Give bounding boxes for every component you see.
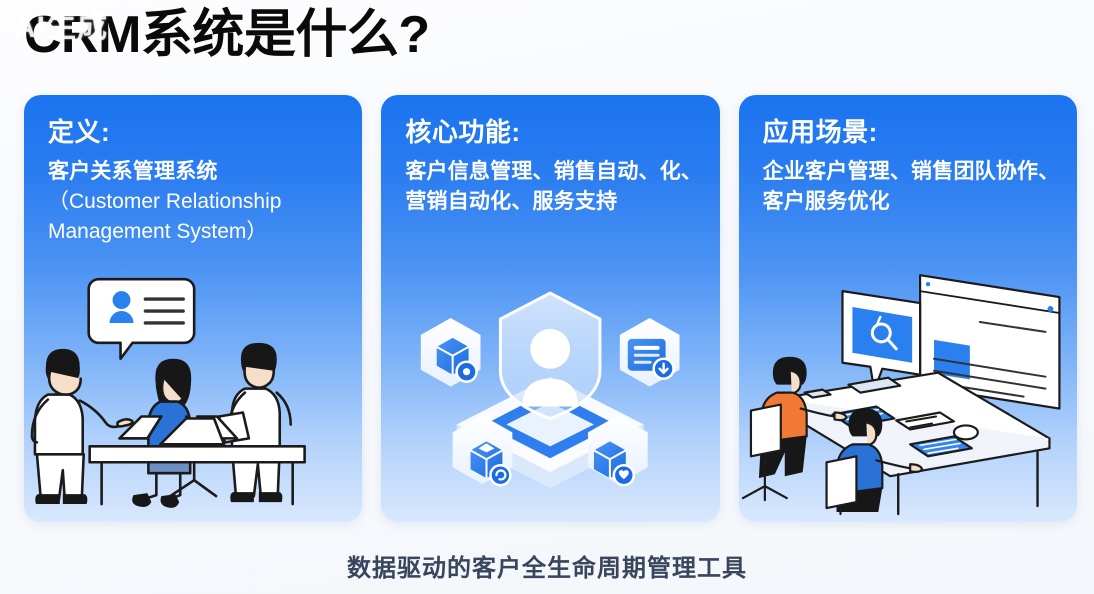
badge-box-gear-icon	[421, 318, 481, 387]
illustration-office-workstations	[739, 266, 1077, 516]
person-presenter	[32, 349, 133, 504]
card-definition-body-en: （Customer Relationship Management System…	[48, 187, 350, 247]
search-bubble-screen	[842, 291, 920, 391]
card-use-cases-body: 企业客户管理、销售团队协作、客户服务优化	[763, 157, 1065, 217]
profile-bubble-icon	[89, 279, 194, 359]
card-definition-heading: 定义:	[48, 117, 348, 148]
badge-document-icon	[620, 318, 680, 387]
user-shield-icon	[501, 293, 601, 418]
card-definition-body-cn: 客户关系管理系统	[48, 157, 350, 187]
card-core-functions-heading: 核心功能:	[405, 117, 705, 148]
footer-note: 数据驱动的客户全生命周期管理工具	[0, 548, 1094, 583]
card-core-functions[interactable]: 核心功能: 客户信息管理、销售自动、化、营销自动化、服务支持	[381, 95, 719, 522]
card-use-cases[interactable]: 应用场景: 企业客户管理、销售团队协作、客户服务优化	[739, 95, 1077, 522]
illustration-feature-badges	[381, 266, 719, 516]
card-core-functions-body: 客户信息管理、销售自动、化、营销自动化、服务支持	[405, 157, 707, 217]
card-use-cases-heading: 应用场景:	[763, 117, 1063, 148]
illustration-team-meeting	[24, 266, 362, 516]
person-standing-right	[219, 343, 291, 502]
card-definition[interactable]: 定义: 客户关系管理系统 （Customer Relationship Mana…	[24, 95, 362, 522]
page-title: CRM系统是什么?	[24, 6, 430, 66]
card-row: 定义: 客户关系管理系统 （Customer Relationship Mana…	[24, 95, 1077, 522]
